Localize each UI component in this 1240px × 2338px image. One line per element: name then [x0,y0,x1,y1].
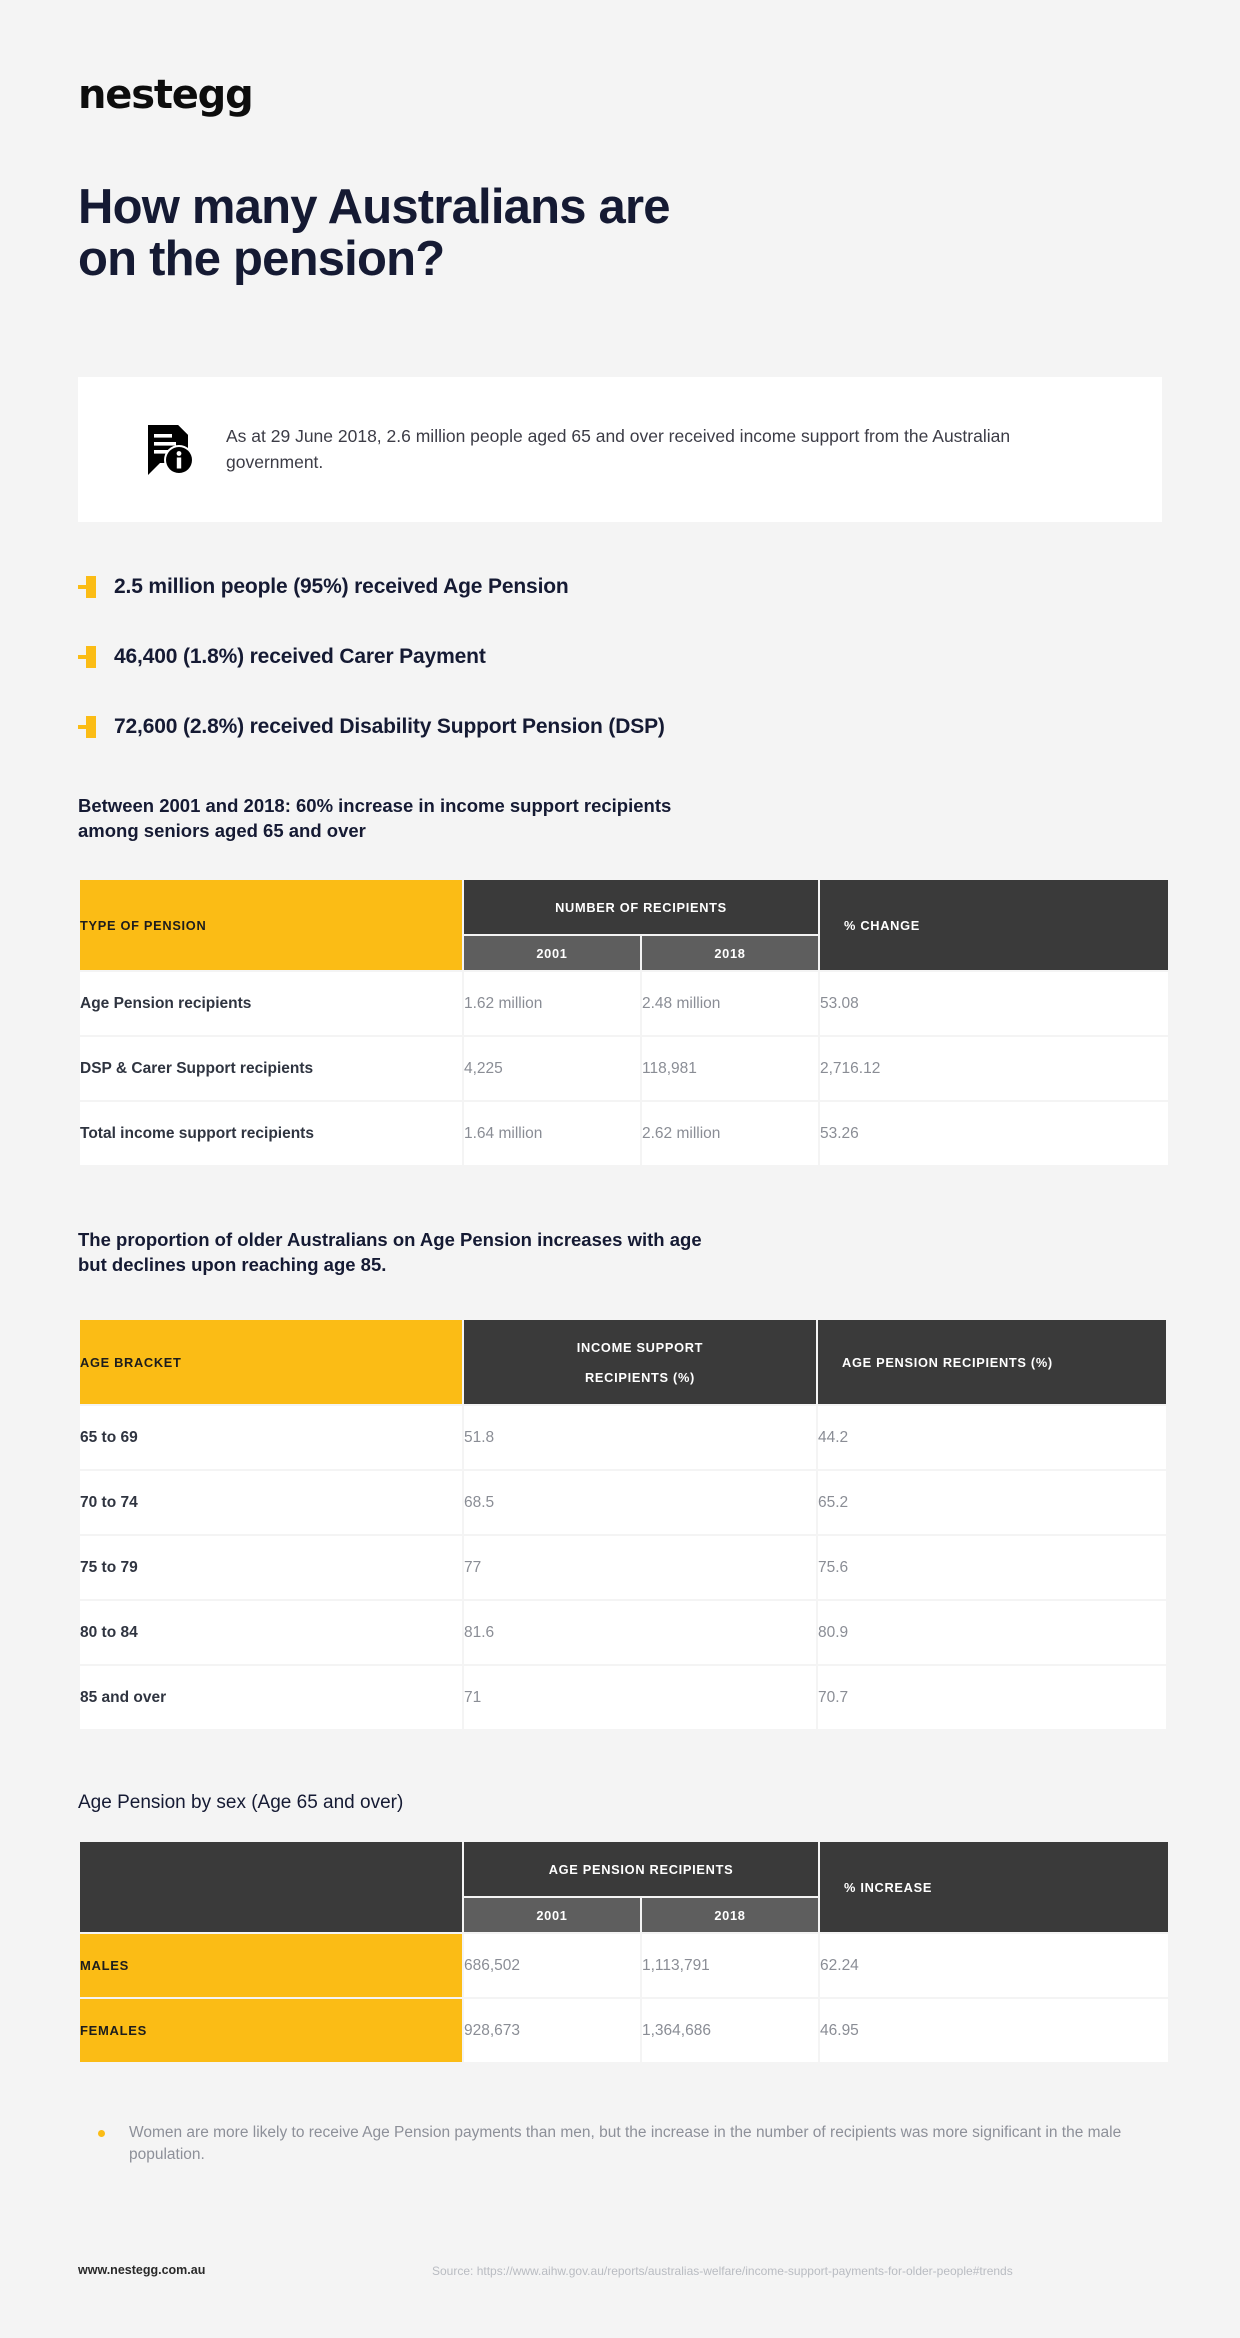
infographic-page: nestegg How many Australians are on the … [0,0,1240,2338]
table-row: FEMALES 928,673 1,364,686 46.95 [80,1999,1168,2062]
table-row: 75 to 79 77 75.6 [80,1536,1166,1599]
cell-2018: 118,981 [642,1037,818,1100]
cell-2001: 686,502 [464,1934,640,1997]
header-year-2001: 2001 [464,936,640,970]
page-title-line-2: on the pension? [78,234,1028,286]
table-age-brackets: AGE BRACKET INCOME SUPPORT RECIPIENTS (%… [78,1318,1168,1731]
cell-change: 53.26 [820,1102,1168,1165]
header-income-support-recipients: INCOME SUPPORT RECIPIENTS (%) [464,1320,816,1404]
cell-2001: 4,225 [464,1037,640,1100]
footnote-text: Women are more likely to receive Age Pen… [129,2122,1129,2167]
table-row: Total income support recipients 1.64 mil… [80,1102,1168,1165]
section-heading-line-2: but declines upon reaching age 85. [78,1254,386,1275]
section-heading-age-proportion: The proportion of older Australians on A… [78,1228,1078,1278]
section-heading-by-sex: Age Pension by sex (Age 65 and over) [78,1790,1078,1816]
header-percent-increase: % INCREASE [820,1842,1168,1932]
table-header-row-top: AGE PENSION RECIPIENTS % INCREASE [80,1842,1168,1896]
bullet-marker-icon [78,646,96,668]
cell-income-support: 71 [464,1666,816,1729]
bullet-marker-icon [78,716,96,738]
row-label: Total income support recipients [80,1102,462,1165]
table-header-row-top: TYPE OF PENSION NUMBER OF RECIPIENTS % C… [80,880,1168,934]
table-row: 65 to 69 51.8 44.2 [80,1406,1166,1469]
row-label: 80 to 84 [80,1601,462,1664]
header-line-2: RECIPIENTS (%) [585,1370,695,1385]
cell-change: 53.08 [820,972,1168,1035]
table-age-pension-by-sex: AGE PENSION RECIPIENTS % INCREASE 2001 2… [78,1840,1170,2064]
header-percent-change: % CHANGE [820,880,1168,970]
footer-website[interactable]: www.nestegg.com.au [78,2263,205,2277]
header-year-2001: 2001 [464,1898,640,1932]
cell-2018: 2.48 million [642,972,818,1035]
table-row: 70 to 74 68.5 65.2 [80,1471,1166,1534]
header-type-of-pension: TYPE OF PENSION [80,880,462,970]
key-stats-list: 2.5 million people (95%) received Age Pe… [78,552,1078,762]
list-item: 2.5 million people (95%) received Age Pe… [78,552,1078,622]
bullet-dot-icon [98,2130,105,2137]
section-heading-income-support: Between 2001 and 2018: 60% increase in i… [78,794,1078,844]
row-label-males: MALES [80,1934,462,1997]
cell-income-support: 51.8 [464,1406,816,1469]
table-row: DSP & Carer Support recipients 4,225 118… [80,1037,1168,1100]
table-header: AGE PENSION RECIPIENTS % INCREASE 2001 2… [80,1842,1168,1932]
list-item-label: 2.5 million people (95%) received Age Pe… [114,575,569,599]
header-year-2018: 2018 [642,1898,818,1932]
section-heading-line-2: among seniors aged 65 and over [78,820,366,841]
table-header: TYPE OF PENSION NUMBER OF RECIPIENTS % C… [80,880,1168,970]
cell-2001: 928,673 [464,1999,640,2062]
row-label: 70 to 74 [80,1471,462,1534]
cell-income-support: 81.6 [464,1601,816,1664]
row-label: 65 to 69 [80,1406,462,1469]
footnote: Women are more likely to receive Age Pen… [98,2122,1168,2167]
table-body: 65 to 69 51.8 44.2 70 to 74 68.5 65.2 75… [80,1406,1166,1729]
callout-box: As at 29 June 2018, 2.6 million people a… [78,377,1162,522]
page-title: How many Australians are on the pension? [78,182,1028,286]
table-header: AGE BRACKET INCOME SUPPORT RECIPIENTS (%… [80,1320,1166,1404]
list-item: 46,400 (1.8%) received Carer Payment [78,622,1078,692]
page-title-line-1: How many Australians are [78,182,1028,234]
cell-2018: 1,364,686 [642,1999,818,2062]
footer-source: Source: https://www.aihw.gov.au/reports/… [432,2264,1013,2278]
table-row: 80 to 84 81.6 80.9 [80,1601,1166,1664]
row-label-females: FEMALES [80,1999,462,2062]
header-blank [80,1842,462,1932]
cell-2001: 1.64 million [464,1102,640,1165]
header-year-2018: 2018 [642,936,818,970]
table-body: MALES 686,502 1,113,791 62.24 FEMALES 92… [80,1934,1168,2062]
cell-income-support: 68.5 [464,1471,816,1534]
header-age-bracket: AGE BRACKET [80,1320,462,1404]
cell-age-pension: 75.6 [818,1536,1166,1599]
row-label: 85 and over [80,1666,462,1729]
cell-increase: 62.24 [820,1934,1168,1997]
brand-logo: nestegg [78,72,253,118]
table-row: Age Pension recipients 1.62 million 2.48… [80,972,1168,1035]
row-label: DSP & Carer Support recipients [80,1037,462,1100]
cell-increase: 46.95 [820,1999,1168,2062]
header-age-pension-recipients: AGE PENSION RECIPIENTS (%) [818,1320,1166,1404]
row-label: 75 to 79 [80,1536,462,1599]
cell-2018: 1,113,791 [642,1934,818,1997]
list-item-label: 46,400 (1.8%) received Carer Payment [114,645,486,669]
table-row: 85 and over 71 70.7 [80,1666,1166,1729]
cell-age-pension: 80.9 [818,1601,1166,1664]
table-body: Age Pension recipients 1.62 million 2.48… [80,972,1168,1165]
cell-change: 2,716.12 [820,1037,1168,1100]
document-info-icon [144,423,194,477]
callout-text: As at 29 June 2018, 2.6 million people a… [226,424,1106,475]
table-row: MALES 686,502 1,113,791 62.24 [80,1934,1168,1997]
table-income-support-recipients: TYPE OF PENSION NUMBER OF RECIPIENTS % C… [78,878,1170,1167]
table-header-row: AGE BRACKET INCOME SUPPORT RECIPIENTS (%… [80,1320,1166,1404]
cell-2018: 2.62 million [642,1102,818,1165]
bullet-marker-icon [78,576,96,598]
list-item: 72,600 (2.8%) received Disability Suppor… [78,692,1078,762]
cell-income-support: 77 [464,1536,816,1599]
header-age-pension-recipients: AGE PENSION RECIPIENTS [464,1842,818,1896]
section-heading-line-1: The proportion of older Australians on A… [78,1229,702,1250]
header-number-of-recipients: NUMBER OF RECIPIENTS [464,880,818,934]
header-line-1: INCOME SUPPORT [577,1340,703,1355]
row-label: Age Pension recipients [80,972,462,1035]
cell-age-pension: 44.2 [818,1406,1166,1469]
cell-2001: 1.62 million [464,972,640,1035]
cell-age-pension: 70.7 [818,1666,1166,1729]
section-heading-line-1: Between 2001 and 2018: 60% increase in i… [78,795,671,816]
cell-age-pension: 65.2 [818,1471,1166,1534]
list-item-label: 72,600 (2.8%) received Disability Suppor… [114,715,665,739]
